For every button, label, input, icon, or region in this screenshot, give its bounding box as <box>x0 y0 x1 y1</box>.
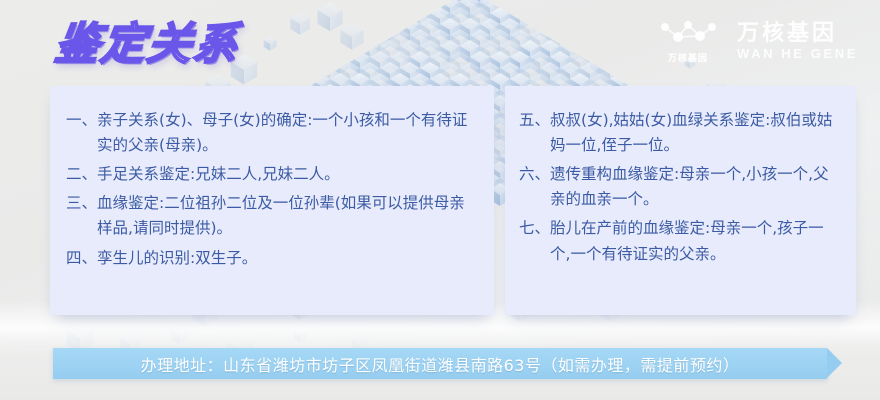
list-item-text: 叔叔(女),姑姑(女)血绿关系鉴定:叔伯或姑妈一位,侄子一位。 <box>550 108 842 158</box>
list-item: 五、叔叔(女),姑姑(女)血绿关系鉴定:叔伯或姑妈一位,侄子一位。 <box>519 108 842 158</box>
page-title: 鉴定关系 <box>52 8 245 72</box>
address-text: 办理地址：山东省潍坊市坊子区凤凰街道潍县南路63号（如需办理，需提前预约） <box>141 352 740 376</box>
list-item-number: 三、 <box>66 191 97 216</box>
list-item: 二、手足关系鉴定:兄妹二人,兄妹二人。 <box>66 162 478 187</box>
list-item-number: 五、 <box>519 108 550 133</box>
services-panel-left: 一、亲子关系(女)、母子(女)的确定:一个小孩和一个有待证实的父亲(母亲)。二、… <box>50 86 494 315</box>
list-item: 七、胎儿在产前的血缘鉴定:母亲一个,孩子一个,一个有待证实的父亲。 <box>519 216 842 266</box>
logo-mark-label: 万核基因 <box>668 51 708 64</box>
poster-canvas: 鉴定关系 万核基因 <box>0 0 880 400</box>
brand-logo: 万核基因 万核基因 WAN HE GENE <box>657 18 858 64</box>
list-item-text: 血缘鉴定:二位祖孙二位及一位孙辈(如果可以提供母亲样品,请同时提供)。 <box>97 191 478 241</box>
list-item: 一、亲子关系(女)、母子(女)的确定:一个小孩和一个有待证实的父亲(母亲)。 <box>66 108 478 158</box>
list-item-text: 亲子关系(女)、母子(女)的确定:一个小孩和一个有待证实的父亲(母亲)。 <box>97 108 478 158</box>
services-list-left: 一、亲子关系(女)、母子(女)的确定:一个小孩和一个有待证实的父亲(母亲)。二、… <box>50 86 494 271</box>
services-list-right: 五、叔叔(女),姑姑(女)血绿关系鉴定:叔伯或姑妈一位,侄子一位。六、遗传重构血… <box>505 86 856 267</box>
list-item: 六、遗传重构血缘鉴定:母亲一个,小孩一个,父亲的血亲一个。 <box>519 162 842 212</box>
list-item-number: 四、 <box>66 246 97 271</box>
address-ribbon: 办理地址：山东省潍坊市坊子区凤凰街道潍县南路63号（如需办理，需提前预约） <box>53 348 827 379</box>
logo-mark: 万核基因 <box>657 18 719 64</box>
list-item-number: 七、 <box>519 216 550 241</box>
list-item: 四、孪生儿的识别:双生子。 <box>66 246 478 271</box>
molecule-nodes-icon <box>657 18 719 48</box>
list-item-text: 孪生儿的识别:双生子。 <box>97 246 478 271</box>
list-item-number: 一、 <box>66 108 97 133</box>
list-item-text: 胎儿在产前的血缘鉴定:母亲一个,孩子一个,一个有待证实的父亲。 <box>550 216 842 266</box>
list-item-number: 六、 <box>519 162 550 187</box>
brand-name-cn: 万核基因 <box>737 21 837 45</box>
list-item-text: 遗传重构血缘鉴定:母亲一个,小孩一个,父亲的血亲一个。 <box>550 162 842 212</box>
brand-wordmark: 万核基因 WAN HE GENE <box>737 21 858 61</box>
services-panel-right: 五、叔叔(女),姑姑(女)血绿关系鉴定:叔伯或姑妈一位,侄子一位。六、遗传重构血… <box>505 86 856 315</box>
list-item-number: 二、 <box>66 162 97 187</box>
list-item: 三、血缘鉴定:二位祖孙二位及一位孙辈(如果可以提供母亲样品,请同时提供)。 <box>66 191 478 241</box>
list-item-text: 手足关系鉴定:兄妹二人,兄妹二人。 <box>97 162 478 187</box>
brand-name-en: WAN HE GENE <box>737 47 858 61</box>
